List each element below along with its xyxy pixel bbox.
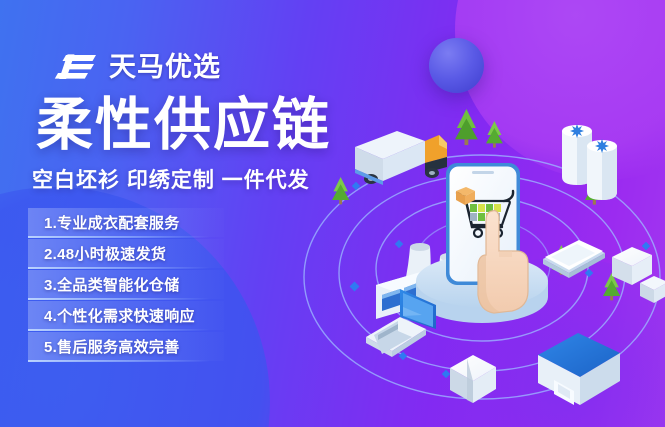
storage-silo-icon — [587, 139, 617, 200]
page-subtitle: 空白坯衫 印绣定制 一件代发 — [32, 170, 310, 191]
speed-f-mark-icon — [54, 52, 98, 82]
feature-label: 2.48小时极速发货 — [44, 243, 166, 264]
supply-chain-illustration — [300, 95, 665, 427]
delivery-truck-icon — [355, 131, 447, 185]
feature-label: 5.售后服务高效完善 — [44, 336, 180, 357]
feature-label: 4.个性化需求快速响应 — [44, 305, 195, 326]
list-item: 1.专业成衣配套服务 — [28, 208, 224, 237]
decorative-sphere — [429, 38, 484, 93]
tablet-icon — [543, 240, 605, 278]
brand-name: 天马优选 — [109, 54, 221, 81]
feature-label: 3.全品类智能化仓储 — [44, 274, 180, 295]
list-item: 5.售后服务高效完善 — [28, 332, 224, 361]
cardboard-box-icon — [450, 355, 496, 403]
promo-banner: 天马优选 柔性供应链 空白坯衫 印绣定制 一件代发 1.专业成衣配套服务 2.4… — [0, 0, 665, 427]
list-item: 3.全品类智能化仓储 — [28, 270, 224, 299]
feature-list: 1.专业成衣配套服务 2.48小时极速发货 3.全品类智能化仓储 4.个性化需求… — [28, 208, 224, 363]
brand-logo: 天马优选 — [54, 52, 221, 82]
list-item: 4.个性化需求快速响应 — [28, 301, 224, 330]
warehouse-icon — [538, 333, 620, 405]
page-title: 柔性供应链 — [36, 96, 331, 156]
list-item: 2.48小时极速发货 — [28, 239, 224, 268]
feature-label: 1.专业成衣配套服务 — [44, 212, 180, 233]
